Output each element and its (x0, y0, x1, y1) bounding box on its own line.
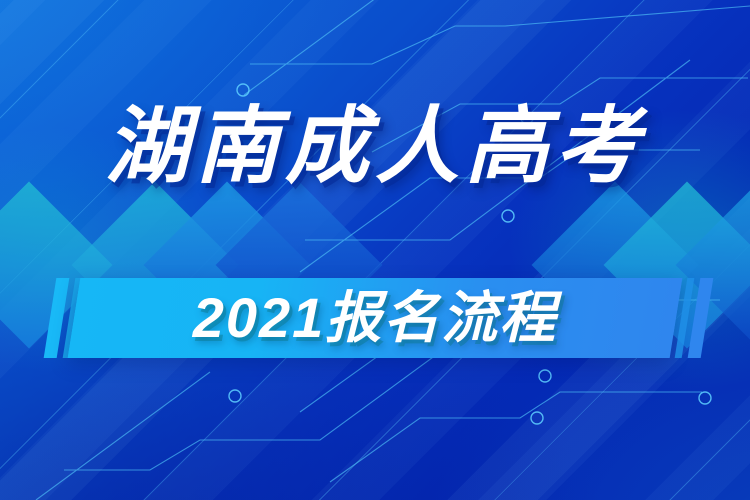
subtitle-area: 2021报名流程 (74, 278, 676, 358)
page-title: 湖南成人高考 (105, 104, 645, 188)
circuit-node-circle (539, 370, 551, 382)
page-subtitle: 2021报名流程 (193, 290, 558, 346)
circuit-node-circle (531, 412, 543, 424)
circuit-node-circle (237, 84, 249, 96)
circuit-node-circle (699, 392, 711, 404)
circuit-trace-lines (0, 0, 750, 500)
main-title-area: 湖南成人高考 (0, 104, 750, 188)
circuit-node-circle (502, 210, 514, 222)
poster-canvas: 湖南成人高考 2021报名流程 (0, 0, 750, 500)
circuit-node-circle (229, 390, 241, 402)
